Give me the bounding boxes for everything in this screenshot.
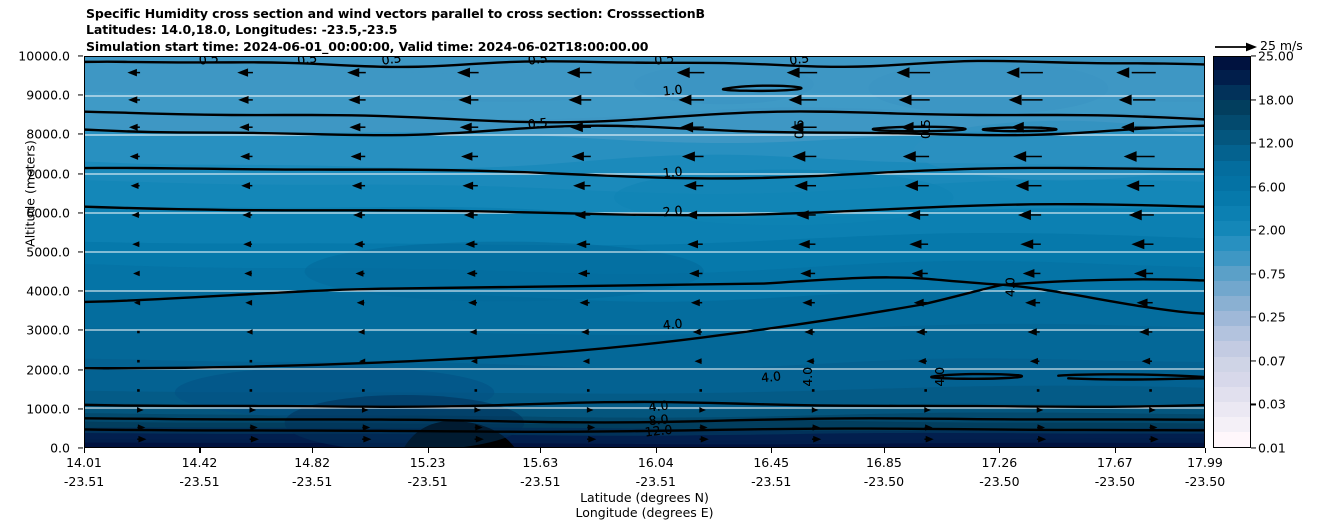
- colorbar-band: [1214, 311, 1250, 327]
- colorbar-band: [1214, 265, 1250, 281]
- colorbar-tick-mark: [1251, 447, 1256, 448]
- contour-label: 1.0: [662, 82, 683, 99]
- x-axis-tick-longitude: -23.51: [636, 474, 676, 489]
- colorbar-tick-label: 25.00: [1258, 49, 1294, 64]
- x-axis-tick-label: 14.82-23.51: [292, 448, 332, 489]
- x-axis-tick-label: 17.67-23.50: [1095, 448, 1135, 489]
- colorbar-tick-mark: [1251, 230, 1256, 231]
- colorbar-tick-mark: [1251, 186, 1256, 187]
- colorbar-tick-label: 0.03: [1258, 397, 1286, 412]
- x-axis-tick-label: 17.26-23.50: [979, 448, 1019, 489]
- colorbar-tick-mark: [1251, 360, 1256, 361]
- x-axis-tick-latitude: 17.26: [979, 455, 1019, 470]
- x-axis-tick-longitude: -23.51: [520, 474, 560, 489]
- x-axis-tick-longitude: -23.51: [64, 474, 104, 489]
- contour-label: 4.0: [1002, 277, 1017, 297]
- colorbar-band: [1214, 401, 1250, 417]
- x-axis-tick-longitude: -23.51: [179, 474, 219, 489]
- contour-label: 0.5: [296, 57, 318, 68]
- colorbar-band: [1214, 115, 1250, 131]
- y-axis-tick-mark: [78, 330, 83, 331]
- colorbar-band: [1214, 160, 1250, 176]
- colorbar-band: [1214, 296, 1250, 312]
- colorbar-tick-label: 0.75: [1258, 266, 1286, 281]
- contour-label: 12.0: [644, 422, 673, 440]
- colorbar-tick-mark: [1251, 317, 1256, 318]
- contour-label: 0.5: [792, 119, 807, 139]
- colorbar-band: [1214, 431, 1250, 447]
- x-axis-tick-latitude: 14.42: [179, 455, 219, 470]
- figure-canvas: Specific Humidity cross section and wind…: [0, 0, 1326, 526]
- contour-label: 1.0: [662, 164, 683, 181]
- colorbar-band: [1214, 69, 1250, 85]
- colorbar-tick-mark: [1251, 273, 1256, 274]
- x-axis-tick-label: 17.99-23.50: [1185, 448, 1225, 489]
- x-axis-tick-longitude: -23.51: [751, 474, 791, 489]
- x-axis-tick-label: 14.42-23.51: [179, 448, 219, 489]
- x-axis-tick-label: 16.45-23.51: [751, 448, 791, 489]
- x-axis-tick-latitude: 16.85: [864, 455, 904, 470]
- colorbar-band: [1214, 356, 1250, 372]
- x-axis-tick-latitude: 15.23: [407, 455, 447, 470]
- y-axis: 0.01000.02000.03000.04000.05000.06000.07…: [0, 56, 78, 448]
- contour-label: 0.5: [198, 57, 220, 68]
- x-axis-tick-label: 15.63-23.51: [520, 448, 560, 489]
- colorbar-band: [1214, 235, 1250, 251]
- contour-label: 2.0: [662, 203, 683, 220]
- title-line-2: Latitudes: 14.0,18.0, Longitudes: -23.5,…: [86, 22, 1206, 38]
- contour-label: 0.5: [918, 119, 933, 139]
- colorbar-band: [1214, 145, 1250, 161]
- colorbar-tick-label: 2.00: [1258, 223, 1286, 238]
- y-axis-tick-mark: [78, 251, 83, 252]
- x-axis-tick-latitude: 16.04: [636, 455, 676, 470]
- chart-title: Specific Humidity cross section and wind…: [86, 6, 1206, 55]
- colorbar-band: [1214, 386, 1250, 402]
- title-line-3: Simulation start time: 2024-06-01_00:00:…: [86, 39, 1206, 55]
- colorbar-band: [1214, 190, 1250, 206]
- colorbar: [1213, 56, 1251, 448]
- colorbar-tick-label: 0.07: [1258, 353, 1286, 368]
- x-axis-tick-label: 14.01-23.51: [64, 448, 104, 489]
- x-axis-tick-longitude: -23.51: [292, 474, 332, 489]
- contour-label: 4.0: [760, 368, 781, 385]
- x-axis-tick-latitude: 16.45: [751, 455, 791, 470]
- colorbar-tick-mark: [1251, 143, 1256, 144]
- x-axis-tick-label: 16.85-23.50: [864, 448, 904, 489]
- x-axis-tick-label: 16.04-23.51: [636, 448, 676, 489]
- contour-label: 4.0: [662, 316, 683, 333]
- x-axis-tick-longitude: -23.51: [407, 474, 447, 489]
- contour-label: 0.5: [527, 115, 548, 132]
- colorbar-band: [1214, 341, 1250, 357]
- colorbar-band: [1214, 130, 1250, 146]
- colorbar-tick-mark: [1251, 99, 1256, 100]
- colorbar-tick-label: 18.00: [1258, 92, 1294, 107]
- y-axis-tick-mark: [78, 291, 83, 292]
- x-axis-tick-longitude: -23.50: [979, 474, 1019, 489]
- y-axis-label: Altitude (meters): [23, 14, 38, 374]
- colorbar-band: [1214, 220, 1250, 236]
- y-axis-tick-label: 1000.0: [26, 401, 70, 416]
- x-axis-tick-latitude: 17.67: [1095, 455, 1135, 470]
- colorbar-tick-label: 0.01: [1258, 441, 1286, 456]
- colorbar-band: [1214, 100, 1250, 116]
- colorbar-tick-mark: [1251, 55, 1256, 56]
- contour-label: 0.5: [788, 57, 810, 68]
- x-axis-tick-longitude: -23.50: [1185, 474, 1225, 489]
- contour-labels-layer: 0.50.50.50.50.50.50.50.50.50.50.50.50.50…: [85, 57, 1204, 447]
- y-axis-tick-mark: [78, 369, 83, 370]
- plot-area: 0.50.50.50.50.50.50.50.50.50.50.50.50.50…: [84, 56, 1205, 448]
- y-axis-tick-mark: [78, 55, 83, 56]
- x-axis-tick-latitude: 15.63: [520, 455, 560, 470]
- colorbar-ticks: 0.010.030.070.250.752.006.0012.0018.0025…: [1251, 56, 1321, 448]
- colorbar-band: [1214, 371, 1250, 387]
- colorbar-tick-label: 6.00: [1258, 179, 1286, 194]
- colorbar-tick-label: 12.00: [1258, 136, 1294, 151]
- x-axis-tick-latitude: 17.99: [1185, 455, 1225, 470]
- colorbar-band: [1214, 85, 1250, 101]
- title-line-1: Specific Humidity cross section and wind…: [86, 6, 1206, 22]
- x-axis-tick-latitude: 14.82: [292, 455, 332, 470]
- x-axis-tick-longitude: -23.50: [864, 474, 904, 489]
- x-axis-tick-label: 15.23-23.51: [407, 448, 447, 489]
- colorbar-band: [1214, 416, 1250, 432]
- x-axis-label-longitude: Longitude (degrees E): [84, 505, 1205, 520]
- colorbar-band: [1214, 250, 1250, 266]
- y-axis-tick-mark: [78, 95, 83, 96]
- contour-label: 0.5: [653, 57, 675, 68]
- colorbar-band: [1214, 175, 1250, 191]
- colorbar-tick-mark: [1251, 404, 1256, 405]
- colorbar-band: [1214, 56, 1250, 70]
- y-axis-tick-mark: [78, 134, 83, 135]
- colorbar-band: [1214, 281, 1250, 297]
- x-axis-label-latitude: Latitude (degrees N): [84, 490, 1205, 505]
- contour-label: 4.0: [800, 367, 815, 387]
- contour-label: 0.5: [527, 57, 549, 68]
- x-axis-tick-latitude: 14.01: [64, 455, 104, 470]
- colorbar-tick-label: 0.25: [1258, 310, 1286, 325]
- colorbar-band: [1214, 205, 1250, 221]
- y-axis-tick-mark: [78, 212, 83, 213]
- colorbar-band: [1214, 326, 1250, 342]
- contour-label: 4.0: [932, 367, 947, 387]
- x-axis-tick-longitude: -23.50: [1095, 474, 1135, 489]
- contour-label: 0.5: [381, 57, 403, 68]
- y-axis-tick-mark: [78, 173, 83, 174]
- y-axis-tick-mark: [78, 408, 83, 409]
